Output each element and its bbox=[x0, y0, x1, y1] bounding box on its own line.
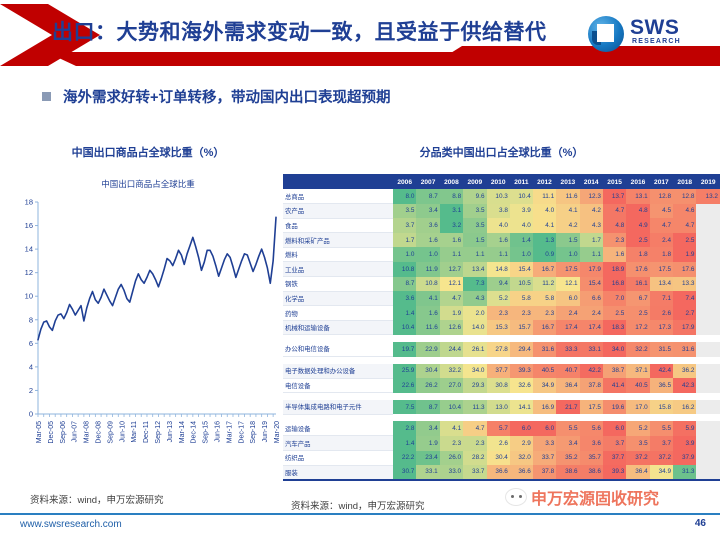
logo-text: SWS bbox=[630, 16, 679, 40]
table-cell bbox=[696, 277, 720, 292]
table-cell: 5.6 bbox=[580, 421, 603, 436]
table-cell: 1.8 bbox=[650, 247, 673, 262]
table-cell: 38.6 bbox=[556, 465, 579, 480]
table-row: 纺织品22.223.426.028.230.432.033.735.235.73… bbox=[283, 451, 720, 466]
table-cell: 5.8 bbox=[533, 291, 556, 306]
table-cell: 36.6 bbox=[487, 465, 510, 480]
table-row-label: 总商品 bbox=[283, 189, 393, 204]
table-cell: 1.6 bbox=[487, 233, 510, 248]
table-row: 农产品3.53.43.13.53.83.94.04.14.24.74.84.54… bbox=[283, 204, 720, 219]
table-cell: 34.9 bbox=[650, 465, 673, 480]
table-cell: 26.1 bbox=[463, 342, 486, 357]
table-cell: 3.5 bbox=[463, 218, 486, 233]
svg-text:0: 0 bbox=[29, 410, 33, 419]
table-cell: 3.4 bbox=[556, 436, 579, 451]
sws-circle-logo-icon bbox=[588, 16, 624, 52]
table-cell: 2.4 bbox=[650, 233, 673, 248]
table-cell: 13.1 bbox=[626, 189, 649, 204]
table-cell: 12.8 bbox=[673, 189, 696, 204]
table-cell: 5.7 bbox=[487, 421, 510, 436]
table-cell: 4.7 bbox=[440, 291, 463, 306]
table-row-label: 服装 bbox=[283, 465, 393, 480]
svg-text:18: 18 bbox=[25, 198, 33, 207]
table-cell: 5.2 bbox=[626, 421, 649, 436]
table-cell: 37.8 bbox=[533, 465, 556, 480]
table-cell: 10.3 bbox=[487, 189, 510, 204]
table-cell: 3.7 bbox=[393, 218, 416, 233]
table-cell: 25.9 bbox=[393, 364, 416, 379]
table-row: 化学品3.64.14.74.35.25.85.86.06.67.06.77.17… bbox=[283, 291, 720, 306]
svg-text:Dec-14: Dec-14 bbox=[191, 421, 198, 444]
table-cell: 4.2 bbox=[580, 204, 603, 219]
table-cell bbox=[696, 247, 720, 262]
table-cell: 13.0 bbox=[487, 400, 510, 415]
table-cell: 1.4 bbox=[510, 233, 533, 248]
svg-text:16: 16 bbox=[25, 221, 33, 230]
table-cell: 14.8 bbox=[487, 262, 510, 277]
table-row: 汽车产品1.41.92.32.32.62.93.33.43.63.73.53.7… bbox=[283, 436, 720, 451]
table-cell bbox=[696, 306, 720, 321]
table-row-label: 工业品 bbox=[283, 262, 393, 277]
table-cell: 34.0 bbox=[603, 342, 626, 357]
table-row-label: 电子数据处理和办公设备 bbox=[283, 364, 393, 379]
table-cell: 3.2 bbox=[440, 218, 463, 233]
table-cell: 1.9 bbox=[673, 247, 696, 262]
table-cell: 12.7 bbox=[440, 262, 463, 277]
table-cell: 31.6 bbox=[533, 342, 556, 357]
svg-text:Jun-13: Jun-13 bbox=[167, 421, 174, 443]
svg-text:Mar-20: Mar-20 bbox=[274, 421, 281, 443]
table-cell: 6.0 bbox=[533, 421, 556, 436]
table-cell: 1.1 bbox=[440, 247, 463, 262]
table-cell: 4.0 bbox=[510, 218, 533, 233]
table-row: 药物1.41.61.92.02.32.32.32.42.42.52.52.62.… bbox=[283, 306, 720, 321]
table-cell: 1.9 bbox=[440, 306, 463, 321]
svg-text:Sep-12: Sep-12 bbox=[155, 421, 162, 444]
table-cell: 10.8 bbox=[393, 262, 416, 277]
table-cell: 26.2 bbox=[416, 378, 439, 393]
table-cell: 6.0 bbox=[556, 291, 579, 306]
table-cell: 12.1 bbox=[556, 277, 579, 292]
table-cell: 2.5 bbox=[626, 233, 649, 248]
table-cell: 31.6 bbox=[673, 342, 696, 357]
table-cell: 38.7 bbox=[603, 364, 626, 379]
sws-logo: SWS RESEARCH bbox=[588, 14, 710, 56]
table-cell: 2.5 bbox=[603, 306, 626, 321]
table-cell: 5.2 bbox=[487, 291, 510, 306]
table-cell: 17.6 bbox=[626, 262, 649, 277]
table-spacer-row bbox=[283, 335, 720, 342]
table-cell: 1.0 bbox=[556, 247, 579, 262]
table-cell: 4.3 bbox=[580, 218, 603, 233]
table-cell bbox=[696, 204, 720, 219]
table-cell: 7.1 bbox=[650, 291, 673, 306]
table-cell: 3.6 bbox=[416, 218, 439, 233]
table-cell: 6.0 bbox=[510, 421, 533, 436]
table-row: 运输设备2.83.44.14.75.76.06.05.55.66.05.25.5… bbox=[283, 421, 720, 436]
table-cell: 17.5 bbox=[580, 400, 603, 415]
svg-text:8: 8 bbox=[29, 315, 33, 324]
table-cell: 35.7 bbox=[580, 451, 603, 466]
table-cell: 10.4 bbox=[393, 320, 416, 335]
table-cell: 37.2 bbox=[650, 451, 673, 466]
table-cell: 17.5 bbox=[556, 262, 579, 277]
table-cell: 4.3 bbox=[463, 291, 486, 306]
table-cell: 1.6 bbox=[416, 233, 439, 248]
svg-text:Mar-17: Mar-17 bbox=[226, 421, 233, 443]
slide-header: 出口：大势和海外需求变动一致，且受益于供给替代 SWS RESEARCH bbox=[0, 0, 720, 72]
table-cell: 36.4 bbox=[626, 465, 649, 480]
table-cell: 40.7 bbox=[556, 364, 579, 379]
table-cell: 11.6 bbox=[416, 320, 439, 335]
table-cell: 33.7 bbox=[533, 451, 556, 466]
table-cell: 42.3 bbox=[673, 378, 696, 393]
right-table-title: 分品类中国出口占全球比重（%） bbox=[283, 140, 720, 160]
table-cell bbox=[696, 291, 720, 306]
table-cell: 31.5 bbox=[650, 342, 673, 357]
table-cell: 30.4 bbox=[487, 451, 510, 466]
table-cell: 2.9 bbox=[510, 436, 533, 451]
table-spacer-cell bbox=[283, 335, 720, 342]
table-spacer-cell bbox=[283, 414, 720, 421]
table-cell: 22.6 bbox=[393, 378, 416, 393]
table-cell: 15.8 bbox=[650, 400, 673, 415]
table-cell: 1.1 bbox=[463, 247, 486, 262]
table-row-label: 办公和电信设备 bbox=[283, 342, 393, 357]
table-col-year-2008: 2008 bbox=[440, 175, 463, 189]
table-cell: 13.7 bbox=[603, 189, 626, 204]
table-cell: 1.7 bbox=[580, 233, 603, 248]
svg-text:2: 2 bbox=[29, 386, 33, 395]
table-cell: 2.4 bbox=[580, 306, 603, 321]
table-cell: 36.4 bbox=[556, 378, 579, 393]
table-cell: 19.6 bbox=[603, 400, 626, 415]
table-cell: 13.4 bbox=[463, 262, 486, 277]
table-cell: 4.1 bbox=[440, 421, 463, 436]
table-header: 2006200720082009201020112012201320142015… bbox=[283, 175, 720, 189]
table-cell: 23.4 bbox=[416, 451, 439, 466]
table-cell: 24.4 bbox=[440, 342, 463, 357]
svg-text:Jun-19: Jun-19 bbox=[262, 421, 269, 443]
table-cell: 27.0 bbox=[440, 378, 463, 393]
table-row-label: 钢铁 bbox=[283, 277, 393, 292]
table-cell: 35.2 bbox=[556, 451, 579, 466]
table-col-year-2018: 2018 bbox=[673, 175, 696, 189]
table-cell: 1.4 bbox=[393, 306, 416, 321]
table-cell: 8.7 bbox=[393, 277, 416, 292]
table-cell: 8.7 bbox=[416, 189, 439, 204]
table-row: 电信设备22.626.227.029.330.832.634.936.437.8… bbox=[283, 378, 720, 393]
left-chart-panel: 中国出口商品占全球比重（%） 中国出口商品占全球比重 0246810121416… bbox=[14, 140, 282, 515]
table-cell: 1.4 bbox=[393, 436, 416, 451]
svg-text:Dec-11: Dec-11 bbox=[143, 421, 150, 443]
table-row-label: 农产品 bbox=[283, 204, 393, 219]
table-cell: 19.7 bbox=[393, 342, 416, 357]
table-cell: 1.5 bbox=[463, 233, 486, 248]
table-cell: 4.1 bbox=[533, 218, 556, 233]
table-cell: 16.8 bbox=[603, 277, 626, 292]
table-cell: 2.5 bbox=[673, 233, 696, 248]
table-cell: 15.4 bbox=[510, 262, 533, 277]
table-cell: 4.8 bbox=[603, 218, 626, 233]
table-cell: 1.5 bbox=[556, 233, 579, 248]
table-cell: 9.6 bbox=[463, 189, 486, 204]
table-cell: 11.9 bbox=[416, 262, 439, 277]
table-cell: 39.3 bbox=[603, 465, 626, 480]
table-cell: 32.6 bbox=[510, 378, 533, 393]
table-row: 钢铁8.710.812.17.39.410.511.212.115.416.81… bbox=[283, 277, 720, 292]
table-cell: 1.1 bbox=[580, 247, 603, 262]
left-chart-title: 中国出口商品占全球比重（%） bbox=[14, 140, 282, 160]
table-cell: 5.8 bbox=[510, 291, 533, 306]
table-spacer-row bbox=[283, 414, 720, 421]
table-cell: 1.9 bbox=[416, 436, 439, 451]
table-cell: 2.8 bbox=[393, 421, 416, 436]
page-number: 46 bbox=[695, 518, 706, 529]
table-cell: 33.7 bbox=[463, 465, 486, 480]
svg-text:12: 12 bbox=[25, 268, 33, 277]
table-cell: 5.9 bbox=[673, 421, 696, 436]
table-cell: 10.8 bbox=[416, 277, 439, 292]
table-cell: 1.8 bbox=[626, 247, 649, 262]
table-col-label bbox=[283, 175, 393, 189]
table-cell: 16.9 bbox=[533, 400, 556, 415]
table-cell: 37.1 bbox=[626, 364, 649, 379]
table-row: 工业品10.811.912.713.414.815.416.717.517.91… bbox=[283, 262, 720, 277]
table-cell: 2.7 bbox=[673, 306, 696, 321]
table-cell: 12.6 bbox=[440, 320, 463, 335]
table-cell: 33.0 bbox=[440, 465, 463, 480]
table-cell bbox=[696, 400, 720, 415]
table-cell: 16.2 bbox=[673, 400, 696, 415]
table-spacer-cell bbox=[283, 357, 720, 364]
table-cell: 6.7 bbox=[626, 291, 649, 306]
table-cell: 17.5 bbox=[650, 262, 673, 277]
svg-text:14: 14 bbox=[25, 245, 33, 254]
svg-text:Mar-11: Mar-11 bbox=[131, 421, 138, 443]
table-row: 食品3.73.63.23.54.04.04.14.24.34.84.94.74.… bbox=[283, 218, 720, 233]
table-cell: 30.8 bbox=[487, 378, 510, 393]
table-row: 机械和运输设备10.411.612.614.015.315.716.717.41… bbox=[283, 320, 720, 335]
table-cell: 22.9 bbox=[416, 342, 439, 357]
table-cell: 2.3 bbox=[510, 306, 533, 321]
table-cell: 3.9 bbox=[510, 204, 533, 219]
table-cell: 3.5 bbox=[463, 204, 486, 219]
table-cell: 4.1 bbox=[556, 204, 579, 219]
square-bullet-icon bbox=[42, 92, 51, 101]
table-col-year-2010: 2010 bbox=[487, 175, 510, 189]
page-title: 出口：大势和海外需求变动一致，且受益于供给替代 bbox=[52, 16, 572, 46]
table-cell: 1.3 bbox=[533, 233, 556, 248]
table-cell: 1.6 bbox=[416, 306, 439, 321]
table-cell: 4.2 bbox=[556, 218, 579, 233]
svg-text:Dec-05: Dec-05 bbox=[48, 421, 55, 444]
footer-divider bbox=[0, 513, 720, 515]
table-cell: 17.4 bbox=[556, 320, 579, 335]
table-cell: 33.1 bbox=[416, 465, 439, 480]
table-row: 燃料1.01.01.11.11.11.00.91.01.11.61.81.81.… bbox=[283, 247, 720, 262]
table-cell: 13.2 bbox=[696, 189, 720, 204]
table-cell bbox=[696, 342, 720, 357]
table-cell: 11.3 bbox=[463, 400, 486, 415]
table-row-label: 汽车产品 bbox=[283, 436, 393, 451]
table-cell: 2.0 bbox=[463, 306, 486, 321]
table-cell: 10.4 bbox=[440, 400, 463, 415]
svg-text:Dec-08: Dec-08 bbox=[96, 421, 103, 444]
table-cell: 13.4 bbox=[650, 277, 673, 292]
table-cell: 37.7 bbox=[603, 451, 626, 466]
table-row: 总商品8.08.78.89.610.310.411.111.612.313.71… bbox=[283, 189, 720, 204]
table-cell: 15.7 bbox=[510, 320, 533, 335]
table-cell: 7.5 bbox=[393, 400, 416, 415]
table-cell: 21.7 bbox=[556, 400, 579, 415]
table-cell: 1.6 bbox=[603, 247, 626, 262]
table-cell: 42.4 bbox=[650, 364, 673, 379]
table-cell: 4.9 bbox=[626, 218, 649, 233]
table-cell: 4.7 bbox=[603, 204, 626, 219]
table-cell: 17.4 bbox=[580, 320, 603, 335]
table-cell: 18.3 bbox=[603, 320, 626, 335]
table-col-year-2019: 2019 bbox=[696, 175, 720, 189]
table-cell: 0.9 bbox=[533, 247, 556, 262]
right-table-panel: 分品类中国出口占全球比重（%） 200620072008200920102011… bbox=[283, 140, 720, 520]
table-cell: 4.1 bbox=[416, 291, 439, 306]
section-bullet-label: 海外需求好转+订单转移，带动国内出口表现超预期 bbox=[63, 86, 390, 107]
slide-root: 出口：大势和海外需求变动一致，且受益于供给替代 SWS RESEARCH 海外需… bbox=[0, 0, 720, 540]
table-cell: 14.1 bbox=[510, 400, 533, 415]
table-cell bbox=[696, 421, 720, 436]
table-cell: 33.1 bbox=[580, 342, 603, 357]
table-cell: 2.3 bbox=[603, 233, 626, 248]
table-cell: 17.2 bbox=[626, 320, 649, 335]
table-cell: 7.0 bbox=[603, 291, 626, 306]
table-cell: 28.2 bbox=[463, 451, 486, 466]
table-cell: 12.8 bbox=[650, 189, 673, 204]
svg-text:Sep-18: Sep-18 bbox=[250, 421, 257, 444]
table-cell: 34.9 bbox=[533, 378, 556, 393]
table-row: 电子数据处理和办公设备25.930.432.234.037.739.340.54… bbox=[283, 364, 720, 379]
table-cell bbox=[696, 465, 720, 480]
table-cell: 15.4 bbox=[580, 277, 603, 292]
table-row-label: 纺织品 bbox=[283, 451, 393, 466]
table-cell: 2.6 bbox=[650, 306, 673, 321]
table-col-year-2014: 2014 bbox=[580, 175, 603, 189]
table-col-year-2012: 2012 bbox=[533, 175, 556, 189]
table-cell: 4.7 bbox=[650, 218, 673, 233]
table-cell: 4.7 bbox=[673, 218, 696, 233]
table-cell: 29.4 bbox=[510, 342, 533, 357]
table-col-year-2015: 2015 bbox=[603, 175, 626, 189]
table-cell: 11.2 bbox=[533, 277, 556, 292]
table-cell: 37.8 bbox=[580, 378, 603, 393]
svg-text:Dec-17: Dec-17 bbox=[238, 421, 245, 444]
table-cell: 10.5 bbox=[510, 277, 533, 292]
table-row: 半导体集成电路和电子元件7.58.710.411.313.014.116.921… bbox=[283, 400, 720, 415]
heatmap-table: 2006200720082009201020112012201320142015… bbox=[283, 174, 720, 481]
table-cell: 4.6 bbox=[673, 204, 696, 219]
svg-text:Mar-14: Mar-14 bbox=[179, 421, 186, 443]
svg-text:Jun-10: Jun-10 bbox=[119, 421, 126, 443]
table-cell: 32.2 bbox=[626, 342, 649, 357]
table-cell: 2.3 bbox=[487, 306, 510, 321]
table-row: 办公和电信设备19.722.924.426.127.829.431.633.33… bbox=[283, 342, 720, 357]
table-col-year-2007: 2007 bbox=[416, 175, 439, 189]
table-cell: 5.5 bbox=[556, 421, 579, 436]
table-cell: 36.2 bbox=[673, 364, 696, 379]
table-cell: 12.3 bbox=[580, 189, 603, 204]
table-cell: 42.2 bbox=[580, 364, 603, 379]
table-cell bbox=[696, 451, 720, 466]
section-bullet: 海外需求好转+订单转移，带动国内出口表现超预期 bbox=[42, 86, 390, 107]
table-row-label: 运输设备 bbox=[283, 421, 393, 436]
svg-text:Mar-08: Mar-08 bbox=[84, 421, 91, 443]
table-row-label: 电信设备 bbox=[283, 378, 393, 393]
table-spacer-row bbox=[283, 393, 720, 400]
table-cell bbox=[696, 378, 720, 393]
table-cell: 36.6 bbox=[510, 465, 533, 480]
table-cell: 11.1 bbox=[533, 189, 556, 204]
table-cell: 32.2 bbox=[440, 364, 463, 379]
table-cell: 1.0 bbox=[510, 247, 533, 262]
table-cell: 1.1 bbox=[487, 247, 510, 262]
svg-text:10: 10 bbox=[25, 292, 33, 301]
svg-text:Sep-15: Sep-15 bbox=[203, 421, 210, 444]
table-header-row: 2006200720082009201020112012201320142015… bbox=[283, 175, 720, 189]
table-cell: 3.6 bbox=[580, 436, 603, 451]
table-row-label: 药物 bbox=[283, 306, 393, 321]
table-cell bbox=[696, 320, 720, 335]
footer-website-link[interactable]: www.swsresearch.com bbox=[20, 519, 122, 530]
svg-text:4: 4 bbox=[29, 362, 33, 371]
table-cell: 1.0 bbox=[416, 247, 439, 262]
table-cell: 13.3 bbox=[673, 277, 696, 292]
table-row: 燃料和采矿产品1.71.61.61.51.61.41.31.51.72.32.5… bbox=[283, 233, 720, 248]
table-cell: 36.5 bbox=[650, 378, 673, 393]
table-cell: 3.4 bbox=[416, 421, 439, 436]
table-cell: 38.6 bbox=[580, 465, 603, 480]
table-cell: 7.4 bbox=[673, 291, 696, 306]
table-cell: 3.4 bbox=[416, 204, 439, 219]
table-col-year-2016: 2016 bbox=[626, 175, 649, 189]
table-cell: 2.4 bbox=[556, 306, 579, 321]
table-cell: 33.3 bbox=[556, 342, 579, 357]
table-body: 总商品8.08.78.89.610.310.411.111.612.313.71… bbox=[283, 189, 720, 480]
table-cell: 34.0 bbox=[463, 364, 486, 379]
table-cell: 15.3 bbox=[487, 320, 510, 335]
table-cell: 2.5 bbox=[626, 306, 649, 321]
table-col-year-2011: 2011 bbox=[510, 175, 533, 189]
table-cell: 3.7 bbox=[603, 436, 626, 451]
table-row: 服装30.733.133.033.736.636.637.838.638.639… bbox=[283, 465, 720, 480]
table-cell: 12.1 bbox=[440, 277, 463, 292]
table-cell: 39.3 bbox=[510, 364, 533, 379]
table-cell: 17.0 bbox=[626, 400, 649, 415]
table-cell: 41.4 bbox=[603, 378, 626, 393]
table-cell: 2.3 bbox=[440, 436, 463, 451]
table-col-year-2009: 2009 bbox=[463, 175, 486, 189]
table-cell: 8.8 bbox=[440, 189, 463, 204]
table-cell: 16.7 bbox=[533, 320, 556, 335]
table-cell: 3.7 bbox=[650, 436, 673, 451]
table-cell: 1.6 bbox=[440, 233, 463, 248]
chart-legend-label: 中国出口商品占全球比重 bbox=[14, 178, 282, 190]
table-row-label: 燃料 bbox=[283, 247, 393, 262]
right-source-note: 资料来源：wind，申万宏源研究 bbox=[291, 498, 425, 512]
table-cell: 4.0 bbox=[533, 204, 556, 219]
table-row-label: 食品 bbox=[283, 218, 393, 233]
table-row-label: 燃料和采矿产品 bbox=[283, 233, 393, 248]
svg-text:Jun-07: Jun-07 bbox=[72, 421, 79, 443]
